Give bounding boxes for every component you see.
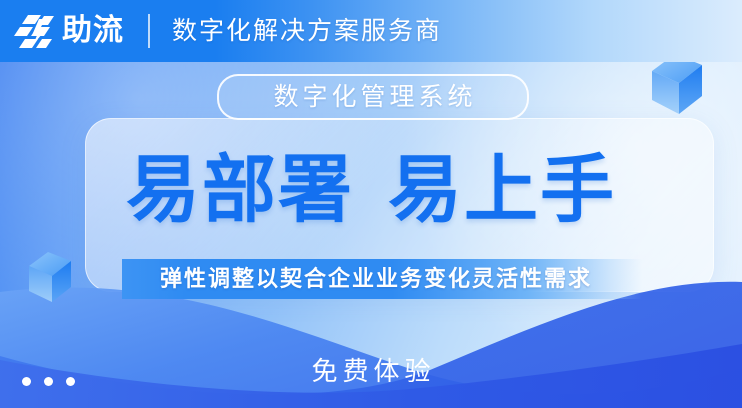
header-tagline: 数字化解决方案服务商 [172, 14, 442, 48]
carousel-dot-1[interactable] [22, 377, 31, 386]
subtitle-bar: 弹性调整以契合企业业务变化灵活性需求 [122, 259, 642, 299]
subtitle-text: 弹性调整以契合企业业务变化灵活性需求 [160, 268, 592, 290]
carousel-dot-2[interactable] [44, 377, 53, 386]
promo-banner: 数字化管理系统 易部署易上手 弹性调整以契合企业业务变化灵活性需求 免费体验 [0, 0, 742, 408]
page-title: 易部署易上手 [0, 142, 742, 238]
headline-left: 易部署 [126, 148, 354, 231]
flow-lightning-logo-icon [14, 9, 58, 53]
system-badge: 数字化管理系统 [217, 74, 529, 120]
brand-logo[interactable]: 助流 [14, 8, 124, 54]
brand-name: 助流 [62, 16, 124, 46]
carousel-dots[interactable] [22, 377, 75, 386]
site-header: 助流 数字化解决方案服务商 [0, 0, 742, 62]
system-badge-label: 数字化管理系统 [269, 85, 476, 110]
header-divider [148, 14, 150, 48]
free-trial-cta[interactable]: 免费体验 [0, 358, 742, 384]
carousel-dot-3[interactable] [66, 377, 75, 386]
free-trial-cta-label: 免费体验 [311, 356, 435, 386]
headline-right: 易上手 [388, 148, 616, 231]
